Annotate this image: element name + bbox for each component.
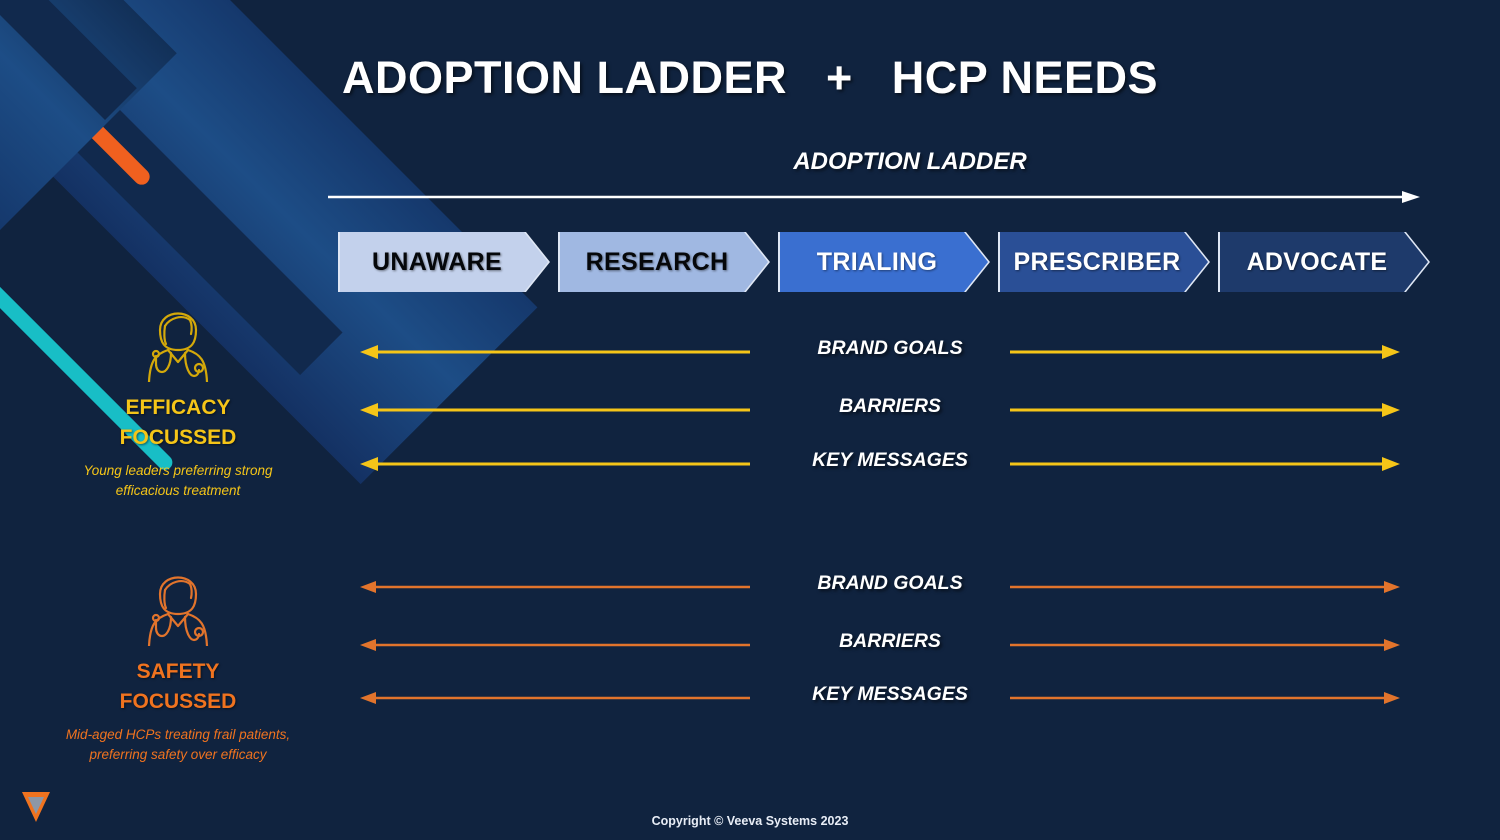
- arrow-right-orange: [1010, 691, 1400, 705]
- adoption-ladder-stages: UNAWARE RESEARCH TRIALING PRESCRIBER ADV…: [338, 232, 1438, 294]
- diagonal-band-blue: [0, 0, 177, 230]
- diagonal-stripe-orange: [0, 14, 153, 188]
- arrow-right-yellow: [1010, 457, 1400, 471]
- ladder-axis-label: ADOPTION LADDER: [330, 148, 1490, 176]
- doctor-icon: [130, 560, 226, 646]
- need-row-brand-goals-safety: BRAND GOALS: [360, 572, 1420, 600]
- stage-advocate[interactable]: ADVOCATE: [1220, 232, 1428, 292]
- slide-canvas: ADOPTION LADDER + HCP NEEDS ADOPTION LAD…: [0, 0, 1500, 840]
- need-label: BARRIERS: [740, 395, 1040, 418]
- doctor-icon: [130, 296, 226, 382]
- persona-name-line1: EFFICACY: [126, 396, 231, 419]
- need-row-key-messages-efficacy: KEY MESSAGES: [360, 449, 1420, 477]
- stage-prescriber[interactable]: PRESCRIBER: [1000, 232, 1208, 292]
- need-row-brand-goals-efficacy: BRAND GOALS: [360, 337, 1420, 365]
- arrow-right-yellow: [1010, 345, 1400, 359]
- arrow-left-orange: [360, 580, 750, 594]
- persona-name-line1: SAFETY: [137, 660, 220, 683]
- need-row-barriers-safety: BARRIERS: [360, 630, 1420, 658]
- page-title: ADOPTION LADDER + HCP NEEDS: [170, 52, 1330, 104]
- need-row-barriers-efficacy: BARRIERS: [360, 395, 1420, 423]
- persona-description: Mid-aged HCPs treating frail patients, p…: [48, 725, 308, 766]
- persona-description: Young leaders preferring strong efficaci…: [63, 461, 293, 502]
- need-label: KEY MESSAGES: [740, 449, 1040, 472]
- copyright-footer: Copyright © Veeva Systems 2023: [0, 814, 1500, 828]
- stage-label: TRIALING: [817, 248, 951, 277]
- need-label: BRAND GOALS: [740, 337, 1040, 360]
- need-label: KEY MESSAGES: [740, 683, 1040, 706]
- need-label: BRAND GOALS: [740, 572, 1040, 595]
- ladder-axis-arrow: [328, 191, 1420, 203]
- stage-unaware[interactable]: UNAWARE: [340, 232, 548, 292]
- persona-name-line2: FOCUSSED: [120, 426, 237, 449]
- need-label: BARRIERS: [740, 630, 1040, 653]
- need-row-key-messages-safety: KEY MESSAGES: [360, 683, 1420, 711]
- arrow-left-orange: [360, 691, 750, 705]
- stage-label: PRESCRIBER: [1014, 248, 1195, 277]
- stage-label: RESEARCH: [586, 248, 743, 277]
- arrow-right-yellow: [1010, 403, 1400, 417]
- arrow-left-yellow: [360, 403, 750, 417]
- stage-research[interactable]: RESEARCH: [560, 232, 768, 292]
- stage-label: ADVOCATE: [1247, 248, 1402, 277]
- arrow-left-orange: [360, 638, 750, 652]
- diagonal-band-dark: [0, 0, 137, 120]
- persona-efficacy: EFFICACY FOCUSSED Young leaders preferri…: [28, 296, 328, 501]
- arrow-right-orange: [1010, 580, 1400, 594]
- persona-name-line2: FOCUSSED: [120, 690, 237, 713]
- arrow-left-yellow: [360, 345, 750, 359]
- stage-label: UNAWARE: [372, 248, 516, 277]
- stage-trialing[interactable]: TRIALING: [780, 232, 988, 292]
- persona-safety: SAFETY FOCUSSED Mid-aged HCPs treating f…: [28, 560, 328, 765]
- arrow-left-yellow: [360, 457, 750, 471]
- arrow-right-orange: [1010, 638, 1400, 652]
